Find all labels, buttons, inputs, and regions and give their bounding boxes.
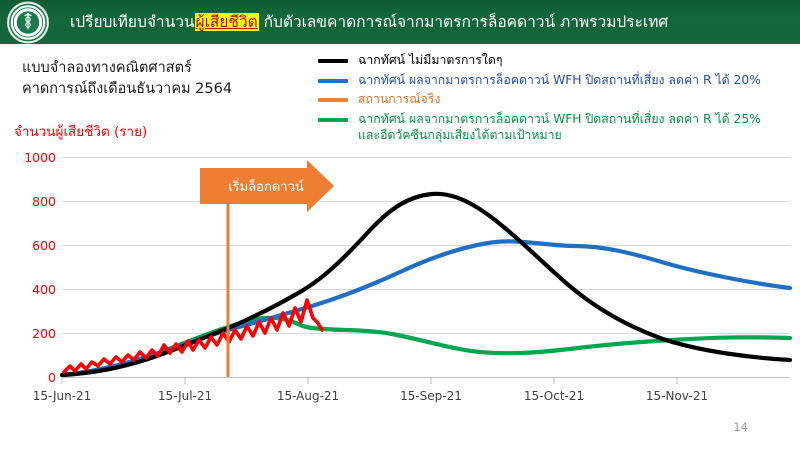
y-tick-label-0: 0 (14, 370, 56, 385)
lockdown-annotation: เริ่มล็อกดาวน์ (198, 168, 334, 208)
x-tick-label-aug: 15-Aug-21 (258, 389, 358, 403)
x-tick-label-jul: 15-Jul-21 (135, 389, 235, 403)
y-tick-label-200: 200 (14, 326, 56, 341)
chart-plot-area: 1000 800 600 400 200 0 15-Jun-21 15-Jul-… (0, 0, 800, 450)
y-tick-label-600: 600 (14, 238, 56, 253)
chart-svg (0, 0, 800, 450)
x-tick-label-jun: 15-Jun-21 (12, 389, 112, 403)
page-number: 14 (733, 420, 748, 434)
x-tick-label-sep: 15-Sep-21 (381, 389, 481, 403)
y-tick-label-1000: 1000 (14, 150, 56, 165)
series-line-actual (64, 300, 322, 372)
lockdown-annotation-label: เริ่มล็อกดาวน์ (218, 177, 314, 199)
x-tick-label-nov: 15-Nov-21 (627, 389, 727, 403)
x-tick-label-oct: 15-Oct-21 (504, 389, 604, 403)
x-axis-ticks (62, 378, 677, 385)
y-tick-label-800: 800 (14, 194, 56, 209)
series-line-r20 (62, 241, 790, 375)
chart-gridlines (62, 158, 790, 334)
y-tick-label-400: 400 (14, 282, 56, 297)
